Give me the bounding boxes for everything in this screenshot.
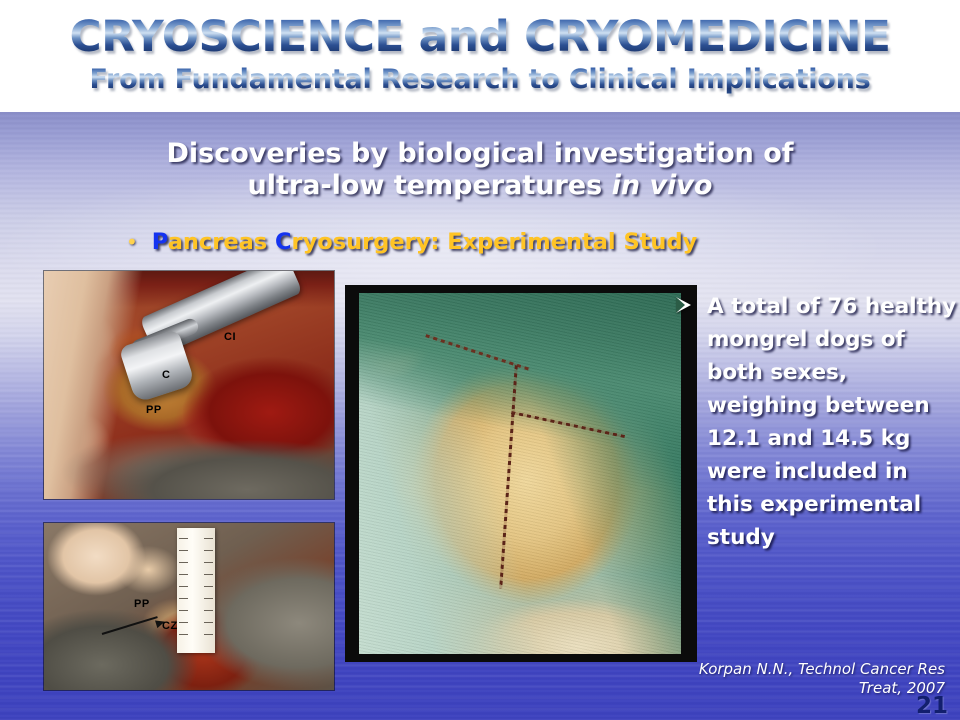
- bullet-row: • Pancreas Cryosurgery: Experimental Stu…: [126, 229, 886, 255]
- photo-operative-field: [345, 285, 697, 662]
- slide-title: Discoveries by biological investigation …: [80, 138, 880, 202]
- photo-frame: [345, 285, 697, 662]
- photo-cryolesion-ruler: PP CZ: [44, 523, 334, 690]
- slide-title-line-1: Discoveries by biological investigation …: [166, 138, 793, 169]
- slide-title-line-2: ultra-low temperatures: [248, 170, 612, 201]
- body-text: A total of 76 healthy mongrel dogs of bo…: [707, 290, 957, 554]
- drape-weave-texture: [359, 293, 681, 654]
- header-fade-edge: [0, 96, 960, 112]
- bullet-seg-2: ryosurgery: Experimental Study: [292, 229, 698, 255]
- photo-label-pp: PP: [146, 404, 162, 416]
- arrow-bullet-icon: [676, 297, 691, 313]
- header-banner: CRYOSCIENCE and CRYOMEDICINE From Fundam…: [0, 0, 960, 112]
- photo-image-bottom-left: PP CZ: [44, 523, 334, 690]
- citation: Korpan N.N., Technol Cancer Res Treat, 2…: [600, 660, 945, 698]
- photo-label-ci: CI: [224, 331, 236, 343]
- bullet-label: Pancreas Cryosurgery: Experimental Study: [152, 229, 697, 255]
- photo-label-cz: CZ: [162, 620, 178, 632]
- bullet-dot-icon: •: [126, 232, 138, 252]
- measuring-ruler: [177, 528, 215, 653]
- photo-label-c: C: [162, 369, 170, 381]
- citation-line-1: Korpan N.N., Technol Cancer Res: [699, 660, 945, 678]
- page-number: 21: [916, 693, 948, 719]
- bullet-cap-p: P: [152, 229, 168, 255]
- header-main-title: CRYOSCIENCE and CRYOMEDICINE: [0, 12, 960, 62]
- annotation-leader-line: [102, 616, 158, 635]
- bullet-cap-c: C: [275, 229, 292, 255]
- photo-image-center: [359, 293, 681, 654]
- photo-pancreas-cryoprobe: CI C PP: [44, 271, 334, 499]
- presentation-slide: CRYOSCIENCE and CRYOMEDICINE From Fundam…: [0, 0, 960, 720]
- header-subtitle: From Fundamental Research to Clinical Im…: [0, 64, 960, 95]
- slide-title-line-2-italic: in vivo: [612, 170, 713, 201]
- photo-image-top-left: CI C PP: [44, 271, 334, 499]
- bullet-seg-1: ancreas: [168, 229, 275, 255]
- photo-label-pp: PP: [134, 598, 150, 610]
